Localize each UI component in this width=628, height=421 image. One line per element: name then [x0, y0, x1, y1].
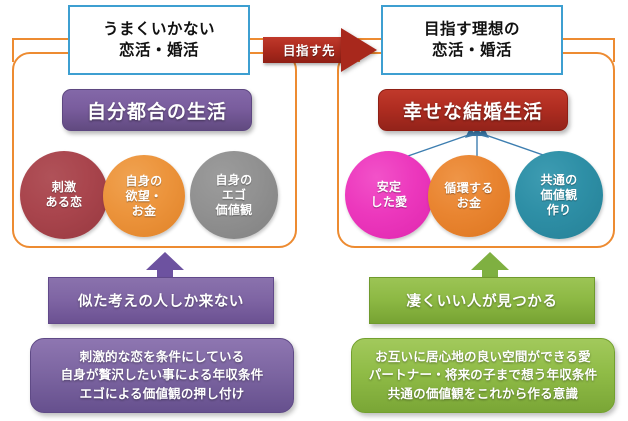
banner-self-centered-life: 自分都合の生活	[62, 89, 252, 131]
detail-left-line-1: 刺激的な恋を条件にしている	[61, 348, 264, 366]
circle-l2-line-3: お金	[126, 204, 163, 219]
detail-box-left: 刺激的な恋を条件にしている 自身が贅沢したい事による年収条件 エゴによる価値観の…	[30, 338, 294, 413]
detail-right-text: お互いに居心地の良い空間ができる愛 パートナー・将来の子まで想う年収条件 共通の…	[369, 348, 598, 402]
banner-happy-married-life: 幸せな結婚生活	[378, 89, 568, 131]
circle-shared-values: 共通の 価値観 作り	[515, 151, 603, 239]
header-right-lines: 目指す理想の 恋活・婚活	[424, 19, 520, 61]
circle-r2-text: 循環する お金	[444, 181, 493, 211]
circle-own-ego-values: 自身の エゴ 価値観	[190, 151, 278, 239]
result-bar-right: 凄くいい人が見つかる	[369, 277, 595, 324]
circle-l3-line-3: 価値観	[216, 203, 253, 218]
banner-left-label: 自分都合の生活	[87, 97, 227, 124]
header-left-lines: うまくいかない 恋活・婚活	[103, 19, 215, 61]
circle-l3-line-2: エゴ	[216, 188, 253, 203]
banner-right-label: 幸せな結婚生活	[403, 97, 543, 124]
header-left-line-1: うまくいかない	[103, 19, 215, 40]
circle-l1-line-1: 刺激	[46, 180, 83, 195]
result-left-label: 似た考えの人しか来ない	[78, 290, 244, 311]
circle-r1-text: 安定 した愛	[371, 180, 408, 210]
up-arrow-right-head	[471, 252, 509, 270]
header-right-line-1: 目指す理想の	[424, 19, 520, 40]
circle-r1-line-2: した愛	[371, 195, 408, 210]
circle-stimulating-love: 刺激 ある恋	[20, 151, 108, 239]
connector-right-outer	[561, 38, 615, 40]
circle-l3-text: 自身の エゴ 価値観	[216, 173, 253, 218]
connector-left-outer	[12, 38, 70, 40]
circle-l2-line-1: 自身の	[126, 174, 163, 189]
header-right-line-2: 恋活・婚活	[424, 40, 520, 61]
up-arrow-left-head	[146, 252, 184, 270]
circle-l2-text: 自身の 欲望・ お金	[126, 174, 163, 219]
circle-l2-line-2: 欲望・	[126, 189, 163, 204]
circle-r3-line-3: 作り	[541, 203, 578, 218]
detail-box-right: お互いに居心地の良い空間ができる愛 パートナー・将来の子まで想う年収条件 共通の…	[351, 338, 615, 413]
detail-right-line-2: パートナー・将来の子まで想う年収条件	[369, 366, 598, 384]
circle-r3-line-1: 共通の	[541, 173, 578, 188]
circle-r3-line-2: 価値観	[541, 188, 578, 203]
header-box-ideal: 目指す理想の 恋活・婚活	[381, 5, 563, 75]
connector-right-drop	[613, 38, 615, 62]
circle-l1-line-2: ある恋	[46, 195, 83, 210]
detail-left-text: 刺激的な恋を条件にしている 自身が贅沢したい事による年収条件 エゴによる価値観の…	[61, 348, 264, 402]
detail-right-line-1: お互いに居心地の良い空間ができる愛	[369, 348, 598, 366]
result-bar-left: 似た考えの人しか来ない	[48, 277, 274, 324]
result-right-label: 凄くいい人が見つかる	[407, 290, 558, 311]
circle-l3-line-1: 自身の	[216, 173, 253, 188]
circle-l1-text: 刺激 ある恋	[46, 180, 83, 210]
detail-left-line-2: 自身が贅沢したい事による年収条件	[61, 366, 264, 384]
goal-arrow: 目指す先	[263, 28, 379, 72]
circle-circulating-money: 循環する お金	[428, 155, 510, 237]
circle-r2-line-1: 循環する	[444, 181, 493, 196]
circle-own-desire-money: 自身の 欲望・ お金	[103, 155, 185, 237]
goal-arrow-label: 目指す先	[271, 40, 347, 59]
connector-left-drop	[12, 38, 14, 62]
header-box-current: うまくいかない 恋活・婚活	[68, 5, 250, 75]
header-left-line-2: 恋活・婚活	[103, 40, 215, 61]
circle-r3-text: 共通の 価値観 作り	[541, 173, 578, 218]
detail-left-line-3: エゴによる価値観の押し付け	[61, 385, 264, 403]
circle-r2-line-2: お金	[444, 196, 493, 211]
diagram-canvas: うまくいかない 恋活・婚活 目指す理想の 恋活・婚活 目指す先 自分都合の生活 …	[0, 0, 628, 421]
detail-right-line-3: 共通の価値観をこれから作る意識	[369, 385, 598, 403]
circle-stable-love: 安定 した愛	[345, 151, 433, 239]
circle-r1-line-1: 安定	[371, 180, 408, 195]
